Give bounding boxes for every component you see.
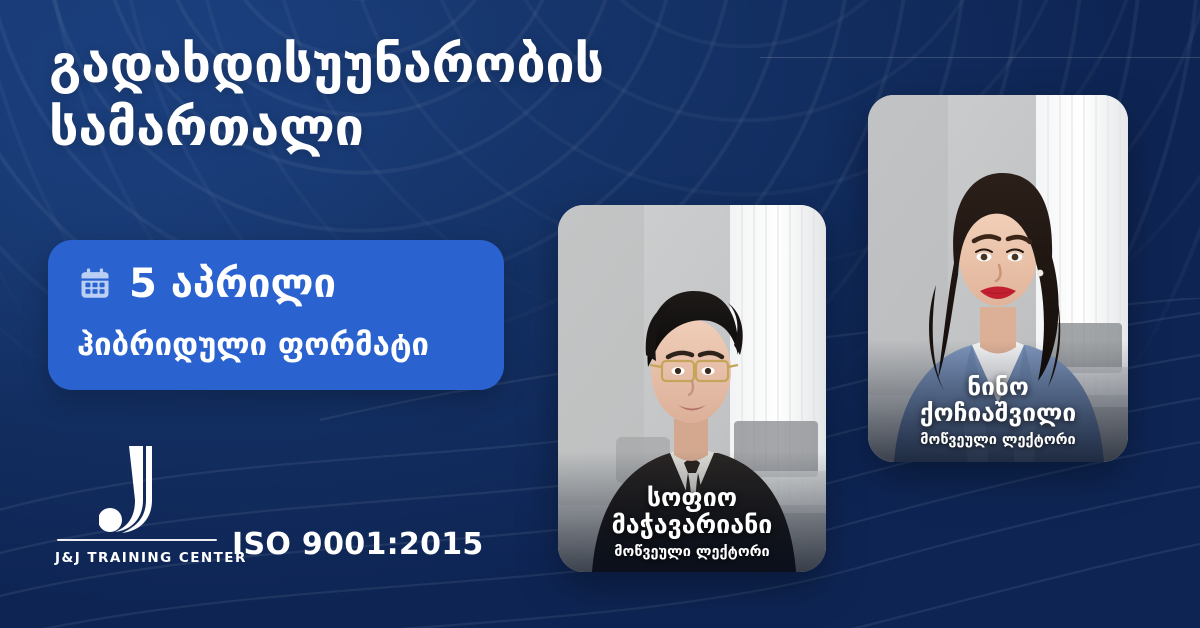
speaker-card-left[interactable]: სოფიო მაჭავარიანი მოწვეული ლექტორი [558,205,826,572]
speaker-name-left-line-2: მაჭავარიანი [612,510,773,539]
speaker-name-left: სოფიო მაჭავარიანი [568,485,816,538]
calendar-icon [77,266,113,302]
logo-divider [57,539,217,541]
j-monogram-icon [99,444,173,536]
page-title: გადახდისუუნარობის სამართალი [49,34,749,161]
speaker-caption-right: ნინო ქოჩიაშვილი მოწვეული ლექტორი [868,340,1128,462]
speaker-name-right: ნინო ქოჩიაშვილი [876,374,1120,426]
speaker-role-left: მოწვეული ლექტორი [568,544,816,560]
event-date: 5 აპრილი [129,264,336,304]
speaker-name-right-line-1: ნინო [967,372,1029,401]
logo-mark [55,444,225,536]
speaker-caption-left: სოფიო მაჭავარიანი მოწვეული ლექტორი [558,451,826,572]
brand-logo[interactable]: J&J TRAINING CENTER [55,444,225,566]
page-title-line-2: სამართალი [49,97,749,160]
event-format: ჰიბრიდული ფორმატი [77,328,482,364]
speaker-name-right-line-2: ქოჩიაშვილი [920,398,1076,427]
speaker-card-right[interactable]: ნინო ქოჩიაშვილი მოწვეული ლექტორი [868,95,1128,462]
speaker-name-left-line-1: სოფიო [647,483,737,512]
page-title-line-1: გადახდისუუნარობის [49,35,604,95]
iso-certification-label: ISO 9001:2015 [232,527,484,562]
date-badge-row: 5 აპრილი [77,264,336,304]
date-badge[interactable]: 5 აპრილი ჰიბრიდული ფორმატი [48,240,504,390]
speaker-role-right: მოწვეული ლექტორი [876,432,1120,448]
event-banner: გადახდისუუნარობის სამართალი 5 აპ [0,0,1200,628]
logo-text: J&J TRAINING CENTER [55,550,225,566]
hairline-divider-decoration [760,57,1200,58]
